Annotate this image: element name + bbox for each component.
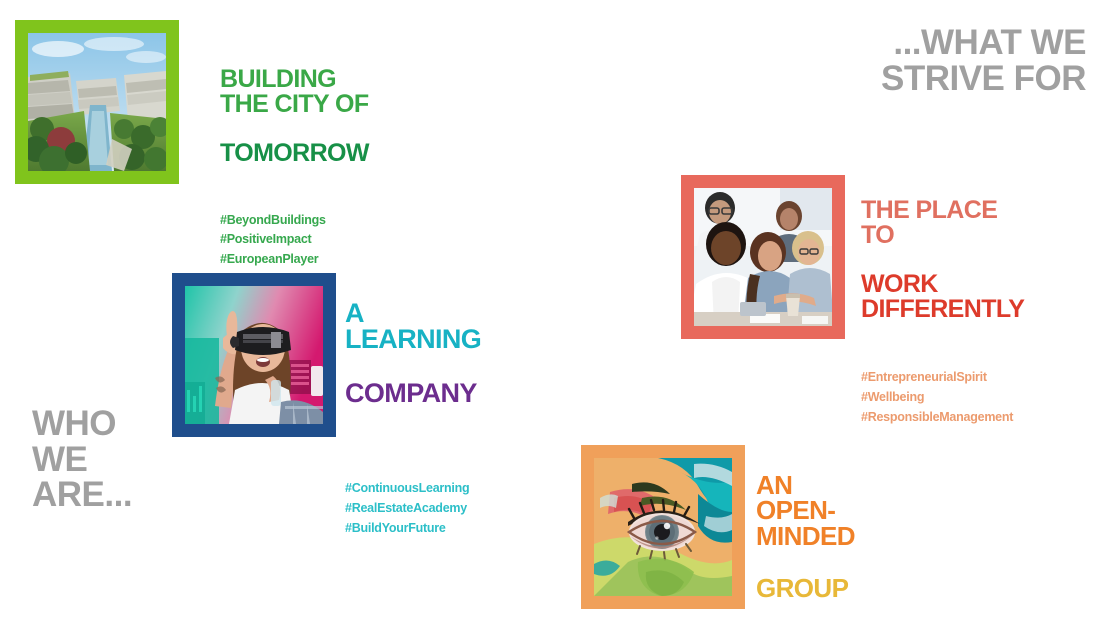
- card-title-learning: A LEARNING COMPANY: [345, 273, 481, 433]
- vr-headset-woman-illustration-icon: [185, 286, 323, 424]
- slide-canvas: ...WHAT WE STRIVE FOR WHO WE ARE...: [0, 0, 1120, 622]
- card-title-strong: GROUP: [756, 576, 875, 602]
- card-title-strong: TOMORROW: [220, 141, 369, 166]
- team-meeting-illustration-icon: [694, 188, 832, 326]
- painted-face-eye-illustration-icon: [594, 458, 732, 596]
- card-title-strong: COMPANY: [345, 380, 481, 407]
- card-frame-green: [15, 20, 179, 184]
- card-title-lead: AN OPEN- MINDED: [756, 473, 875, 550]
- card-frame-orange: [581, 445, 745, 609]
- card-title-work: THE PLACE TO WORK DIFFERENTLY: [861, 173, 1024, 346]
- photo-green-city: [28, 33, 166, 171]
- hashtag[interactable]: #RealEstateAcademy: [345, 499, 481, 519]
- hashtag[interactable]: #BuildYourFuture: [345, 519, 481, 539]
- card-frame-red: [681, 175, 845, 339]
- hashtag[interactable]: #PositiveImpact: [220, 230, 369, 250]
- photo-vr-headset-woman: [185, 286, 323, 424]
- hashtag[interactable]: #Wellbeing: [861, 388, 1024, 408]
- hashtag[interactable]: #EntrepreneurialSpirit: [861, 368, 1024, 388]
- card-text-open: AN OPEN- MINDED GROUP #Diversity&Inclusi…: [756, 447, 875, 622]
- card-text-building: BUILDING THE CITY OF TOMORROW #BeyondBui…: [220, 42, 369, 270]
- card-hashtags-building: #BeyondBuildings #PositiveImpact #Europe…: [220, 211, 369, 270]
- heading-who-we-are: WHO WE ARE...: [32, 406, 132, 513]
- hashtag[interactable]: #ContinuousLearning: [345, 479, 481, 499]
- card-title-lead: THE PLACE TO: [861, 198, 1024, 248]
- card-title-lead: BUILDING THE CITY OF: [220, 67, 369, 117]
- card-frame-blue: [172, 273, 336, 437]
- card-hashtags-learning: #ContinuousLearning #RealEstateAcademy #…: [345, 479, 481, 538]
- card-title-lead: A LEARNING: [345, 300, 481, 353]
- photo-painted-eye: [594, 458, 732, 596]
- heading-what-we-strive-for: ...WHAT WE STRIVE FOR: [881, 25, 1086, 96]
- aerial-city-illustration-icon: [28, 33, 166, 171]
- card-text-work: THE PLACE TO WORK DIFFERENTLY #Entrepren…: [861, 173, 1024, 428]
- card-hashtags-work: #EntrepreneurialSpirit #Wellbeing #Respo…: [861, 368, 1024, 427]
- card-text-learning: A LEARNING COMPANY #ContinuousLearning #…: [345, 273, 481, 539]
- photo-team-meeting: [694, 188, 832, 326]
- hashtag[interactable]: #BeyondBuildings: [220, 211, 369, 231]
- hashtag[interactable]: #EuropeanPlayer: [220, 250, 369, 270]
- card-title-strong: WORK DIFFERENTLY: [861, 272, 1024, 322]
- card-title-building: BUILDING THE CITY OF TOMORROW: [220, 42, 369, 191]
- card-title-open: AN OPEN- MINDED GROUP: [756, 447, 875, 622]
- hashtag[interactable]: #ResponsibleManagement: [861, 408, 1024, 428]
